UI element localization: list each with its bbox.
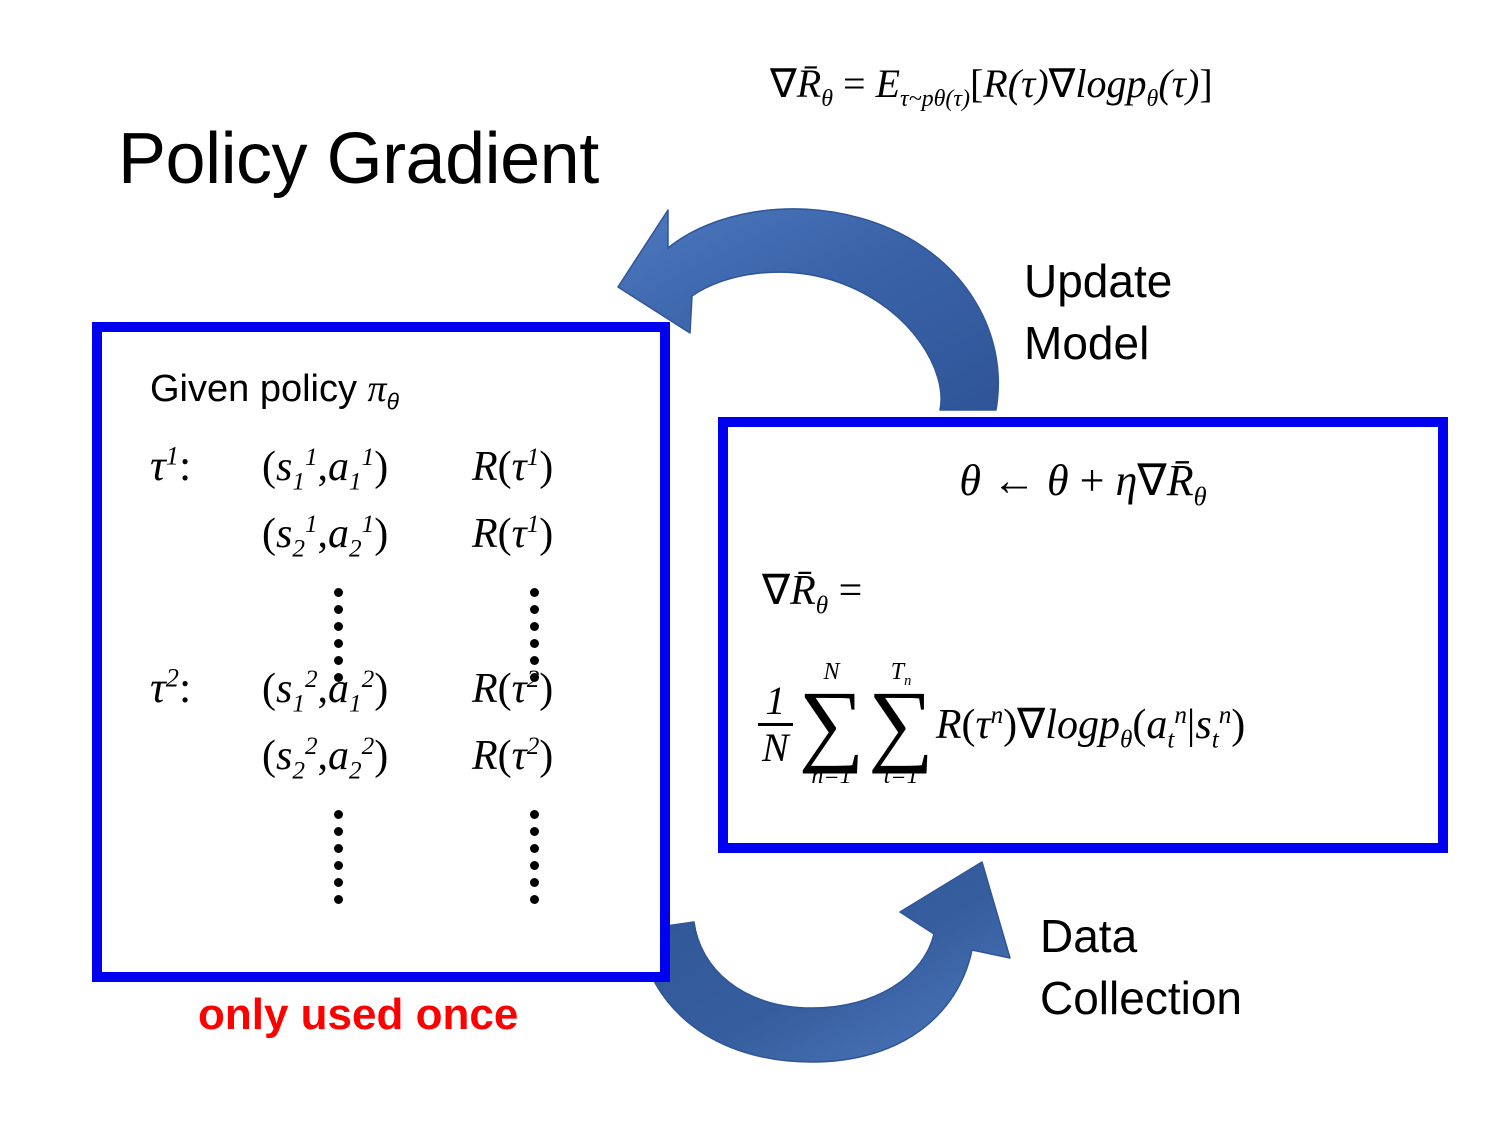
- paren-close: ): [374, 444, 388, 490]
- action-subscript: 1: [349, 690, 362, 717]
- state-action-pair: (s22,a22): [262, 732, 472, 780]
- trajectory-label: τ2:: [150, 662, 262, 713]
- equals-sign: =: [843, 61, 866, 106]
- state-subscript: t: [1212, 726, 1219, 753]
- pi-theta-subscript: θ: [387, 389, 399, 415]
- state-symbol: s: [276, 666, 292, 712]
- action-symbol: a: [328, 444, 349, 490]
- table-row: τ2: (s12,a12) R(τ2): [150, 662, 650, 732]
- action-symbol: a: [1146, 702, 1167, 748]
- action-superscript: n: [1174, 702, 1187, 729]
- theta-symbol: θ: [959, 456, 981, 505]
- table-row: τ1: (s11,a11) R(τ1): [150, 440, 650, 510]
- gradient-definition-lhs: ∇R̄θ =: [762, 565, 862, 615]
- action-superscript: 2: [362, 666, 375, 693]
- paren-close: ): [374, 511, 388, 557]
- state-superscript: 1: [305, 511, 318, 538]
- paren-open: (: [498, 444, 512, 490]
- reward-symbol: R: [472, 733, 498, 779]
- tau-superscript: 2: [166, 662, 179, 692]
- state-superscript: n: [1219, 702, 1232, 729]
- state-action-pair: (s21,a21): [262, 510, 472, 558]
- action-subscript: 2: [349, 757, 362, 784]
- action-symbol: a: [328, 733, 349, 779]
- action-symbol: a: [328, 666, 349, 712]
- state-action-ellipsis: [262, 802, 472, 904]
- colon: :: [179, 663, 191, 712]
- tau-symbol: τ: [512, 733, 527, 779]
- expected-reward-gradient-formula: ∇R̄θ = Eτ~pθ(τ)[R(τ)∇logpθ(τ)]: [770, 60, 1213, 107]
- reward-value: R(τ2): [472, 732, 642, 780]
- gradient-definition-rhs: 1 N N ∑ n=1 Tn ∑ t=1 R(τn)∇logpθ(atn|stn…: [758, 660, 1245, 788]
- colon: :: [179, 441, 191, 490]
- reward-symbol: R: [472, 666, 498, 712]
- state-superscript: 2: [305, 666, 318, 693]
- log-prob-theta-subscript: θ: [1120, 726, 1132, 753]
- action-subscript: t: [1167, 726, 1174, 753]
- nabla-icon-2: ∇: [1049, 61, 1076, 106]
- fraction-numerator: 1: [761, 681, 789, 723]
- fraction-denominator: N: [758, 726, 793, 768]
- tau-argument: (τ): [1158, 61, 1199, 106]
- comma: ,: [318, 666, 329, 712]
- state-subscript: 1: [292, 468, 305, 495]
- reward-symbol: R: [472, 511, 498, 557]
- sigma-icon: ∑: [799, 684, 865, 762]
- pi-symbol: π: [368, 368, 387, 410]
- action-superscript: 2: [362, 733, 375, 760]
- reward-value: R(τ1): [472, 510, 642, 558]
- r-bar-symbol: R̄: [1167, 456, 1194, 505]
- given-policy-text: Given policy: [150, 368, 368, 410]
- sum-lower-limit: t=1: [884, 764, 919, 788]
- action-subscript: 1: [349, 468, 362, 495]
- reward-value: R(τ2): [472, 665, 642, 713]
- data-collection-arrow: [638, 862, 1010, 1062]
- left-arrow-icon: ←: [992, 456, 1036, 505]
- one-over-n-fraction: 1 N: [758, 681, 793, 768]
- only-used-once-note: only used once: [198, 990, 518, 1040]
- trajectory-label: τ1:: [150, 440, 262, 491]
- tau-superscript: n: [991, 702, 1004, 729]
- eta-symbol: η: [1115, 456, 1137, 505]
- nabla-icon: ∇: [770, 61, 797, 106]
- trajectory-list: τ1: (s11,a11) R(τ1) (s21,a21) R(τ1): [150, 440, 650, 884]
- paren-open: (: [262, 666, 276, 712]
- paren-open: (: [262, 733, 276, 779]
- tau-symbol: τ: [150, 663, 166, 712]
- sum-lower-limit: n=1: [811, 764, 851, 788]
- tau-superscript: 2: [527, 666, 540, 693]
- state-action-pair: (s11,a11): [262, 443, 472, 491]
- log-prob-theta-subscript: θ: [1147, 86, 1159, 112]
- theta-subscript: θ: [1194, 481, 1207, 511]
- paren-open: (: [262, 511, 276, 557]
- update-model-line-1: Update: [1024, 250, 1172, 312]
- state-superscript: 1: [305, 444, 318, 471]
- data-collection-line-2: Collection: [1040, 967, 1242, 1029]
- state-subscript: 2: [292, 757, 305, 784]
- tau-superscript: 1: [527, 511, 540, 538]
- vertical-dots-icon: [334, 802, 343, 904]
- given-policy-label: Given policy πθ: [150, 367, 399, 411]
- comma: ,: [318, 444, 329, 490]
- nabla-icon: ∇: [762, 568, 790, 614]
- expectation-symbol: E: [876, 61, 900, 106]
- paren-open: (: [1132, 702, 1146, 748]
- paren-open: (: [262, 444, 276, 490]
- data-collection-line-1: Data: [1040, 905, 1242, 967]
- reward-value: R(τ1): [472, 443, 642, 491]
- paren-open: (: [498, 733, 512, 779]
- reward-ellipsis: [472, 802, 642, 904]
- summation-over-t: Tn ∑ t=1: [868, 660, 934, 788]
- paren-close: ): [539, 444, 553, 490]
- log-prob-term: logp: [1075, 61, 1146, 106]
- log-prob-term: logp: [1045, 702, 1120, 748]
- bracket-open: [: [970, 61, 983, 106]
- update-model-line-2: Model: [1024, 312, 1172, 374]
- reward-term: R(τ): [983, 61, 1048, 106]
- equals-sign: =: [839, 568, 863, 614]
- reward-symbol: R: [472, 444, 498, 490]
- vertical-ellipsis-row: [150, 802, 650, 884]
- theta-subscript: θ: [821, 86, 833, 112]
- tau-symbol: τ: [512, 666, 527, 712]
- bracket-close: ]: [1199, 61, 1212, 106]
- data-collection-label: Data Collection: [1040, 905, 1242, 1029]
- summand-expression: R(τn)∇logpθ(atn|stn): [936, 699, 1245, 749]
- paren-close: ): [1003, 702, 1017, 748]
- vertical-dots-icon: [530, 802, 539, 904]
- paren-close: ): [374, 733, 388, 779]
- comma: ,: [318, 511, 329, 557]
- r-bar-symbol: R̄: [797, 61, 821, 106]
- nabla-icon: ∇: [1137, 456, 1166, 505]
- expectation-subscript: τ~pθ(τ): [900, 86, 970, 112]
- action-symbol: a: [328, 511, 349, 557]
- action-superscript: 1: [362, 511, 375, 538]
- theta-symbol-2: θ: [1047, 456, 1069, 505]
- state-symbol: s: [276, 444, 292, 490]
- paren-close: ): [539, 511, 553, 557]
- slide-canvas: ∇R̄θ = Eτ~pθ(τ)[R(τ)∇logpθ(τ)] Policy Gr…: [0, 0, 1500, 1125]
- parameter-update-formula: θ ← θ + η∇R̄θ: [718, 455, 1448, 506]
- paren-open: (: [498, 511, 512, 557]
- state-subscript: 1: [292, 690, 305, 717]
- action-subscript: 2: [349, 535, 362, 562]
- summation-over-n: N ∑ n=1: [799, 660, 865, 788]
- nabla-icon: ∇: [1017, 702, 1045, 748]
- state-action-pair: (s12,a12): [262, 665, 472, 713]
- sigma-icon: ∑: [868, 684, 934, 762]
- update-model-arrow: [618, 209, 998, 410]
- tau-superscript: 1: [166, 440, 179, 470]
- comma: ,: [318, 733, 329, 779]
- paren-open: (: [962, 702, 976, 748]
- plus-sign: +: [1080, 456, 1105, 505]
- state-symbol: s: [1195, 702, 1211, 748]
- tau-superscript: 1: [527, 444, 540, 471]
- state-symbol: s: [276, 511, 292, 557]
- paren-close: ): [539, 733, 553, 779]
- tau-symbol: τ: [512, 511, 527, 557]
- page-title: Policy Gradient: [118, 122, 599, 198]
- tau-superscript: 2: [527, 733, 540, 760]
- vertical-ellipsis-row: [150, 580, 650, 662]
- r-bar-symbol: R̄: [790, 568, 816, 614]
- table-row: (s22,a22) R(τ2): [150, 732, 650, 802]
- tau-symbol: τ: [512, 444, 527, 490]
- state-superscript: 2: [305, 733, 318, 760]
- paren-close: ): [374, 666, 388, 712]
- paren-close: ): [1231, 702, 1245, 748]
- update-model-label: Update Model: [1024, 250, 1172, 374]
- table-row: (s21,a21) R(τ1): [150, 510, 650, 580]
- tau-symbol: τ: [150, 441, 166, 490]
- action-superscript: 1: [362, 444, 375, 471]
- paren-open: (: [498, 666, 512, 712]
- tau-symbol: τ: [976, 702, 991, 748]
- theta-subscript: θ: [816, 592, 828, 619]
- reward-symbol: R: [936, 702, 962, 748]
- state-symbol: s: [276, 733, 292, 779]
- paren-close: ): [539, 666, 553, 712]
- state-subscript: 2: [292, 535, 305, 562]
